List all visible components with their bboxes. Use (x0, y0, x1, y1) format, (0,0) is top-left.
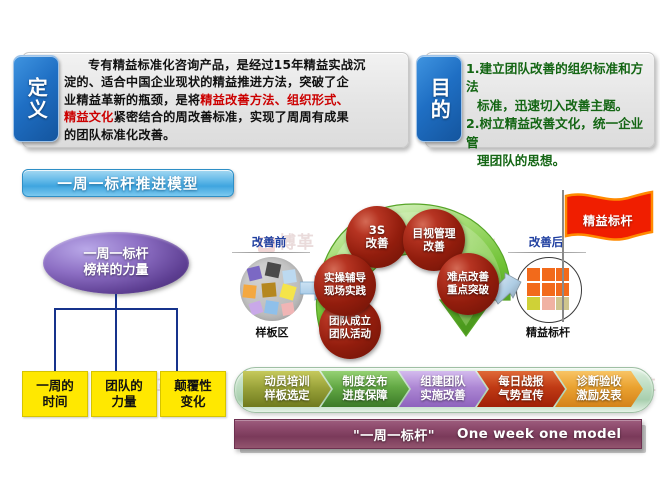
after-tile (527, 268, 540, 281)
before-tile (281, 302, 295, 316)
cycle-sphere-visual-line-1: 目视管理 (412, 227, 455, 240)
before-tile (282, 269, 297, 284)
cycle-sphere-breakthrough: 难点改善 重点突破 (437, 253, 499, 315)
definition-line-1: 专有精益标准化咨询产品，是经过15年精益实战沉 (88, 58, 366, 72)
connector-vertical-center (115, 294, 117, 378)
purpose-item-1-cont: 标准，迅速切入改善主题。 (466, 97, 648, 115)
slide-canvas: B博革 B博革 B博革 B博革 B博革 B博革 定义 专有精益标准化咨询产品，是… (0, 0, 660, 495)
process-step-5-line-1: 诊断验收 (576, 375, 621, 389)
purpose-tag-label: 目的 (429, 77, 449, 121)
pillar-2-line-1: 团队的 (105, 378, 143, 394)
before-caption: 样板区 (240, 324, 304, 340)
pillar-3-line-2: 变化 (180, 394, 205, 410)
process-step-2-line-1: 制度发布 (342, 375, 387, 389)
process-step-5-line-2: 激励发表 (576, 389, 621, 403)
pillar-3-line-1: 颠覆性 (174, 378, 212, 394)
purpose-item-2: 2.树立精益改善文化，统一企业管 (466, 115, 648, 152)
process-step-2-line-2: 进度保障 (342, 389, 387, 403)
cycle-sphere-team-line-2: 团队活动 (329, 328, 371, 341)
purpose-tag: 目的 (416, 55, 462, 142)
process-step-1-line-1: 动员培训 (264, 375, 309, 389)
pillar-2-line-2: 力量 (111, 394, 136, 410)
definition-line-4-highlight: 精益文化 (64, 110, 114, 124)
cycle-sphere-team-line-1: 团队成立 (329, 315, 371, 328)
process-step-4-line-1: 每日战报 (498, 375, 543, 389)
definition-line-5: 的团队标准化改善。 (64, 128, 176, 142)
before-tile (242, 284, 256, 298)
cycle-sphere-breakthrough-line-1: 难点改善 (447, 271, 489, 284)
process-step-5[interactable]: 诊断验收 激励发表 (555, 371, 643, 407)
definition-tag: 定义 (13, 55, 59, 142)
bottom-banner-zh: "一周一标杆" (353, 425, 435, 444)
pillar-box-2: 团队的 力量 (91, 371, 157, 417)
pillar-box-3: 颠覆性 变化 (160, 371, 226, 417)
before-tile (248, 300, 263, 315)
connector-horizontal (54, 308, 178, 310)
before-tile (261, 282, 276, 297)
cycle-sphere-3s-line-2: 改善 (366, 237, 389, 250)
benchmark-flag-label: 精益标杆 (583, 212, 633, 229)
model-title-label: 一周一标杆推进模型 (57, 173, 198, 194)
process-step-4-line-2: 气势宣传 (498, 389, 543, 403)
after-tile (527, 283, 540, 296)
definition-line-3: 业精益革新的瓶颈，是将 (64, 93, 200, 107)
process-step-1-line-2: 样板选定 (264, 389, 309, 403)
pillar-1-line-2: 时间 (42, 394, 67, 410)
connector-vertical-left (54, 308, 56, 378)
flag-pole (562, 190, 564, 322)
connector-vertical-right (176, 308, 178, 378)
process-step-4[interactable]: 每日战报 气势宣传 (477, 371, 565, 407)
purpose-item-2-cont: 理团队的思想。 (466, 152, 648, 170)
cycle-sphere-visual-line-2: 改善 (423, 240, 445, 253)
purpose-text: 1.建立团队改善的组织标准和方法 标准，迅速切入改善主题。 2.树立精益改善文化… (466, 60, 648, 170)
definition-tag-label: 定义 (26, 77, 46, 121)
after-tile (542, 297, 555, 310)
before-tile (265, 262, 282, 279)
process-step-2[interactable]: 制度发布 进度保障 (321, 371, 409, 407)
core-concept-line-2: 榜样的力量 (83, 263, 148, 279)
process-step-3-line-2: 实施改善 (420, 389, 465, 403)
before-label: 改善前 (238, 234, 300, 250)
before-sample-circle (240, 257, 304, 321)
after-tile (542, 283, 555, 296)
purpose-item-1: 1.建立团队改善的组织标准和方法 (466, 60, 648, 97)
cycle-sphere-field-line-1: 实操辅导 (324, 272, 366, 285)
process-steps: 动员培训 样板选定 制度发布 进度保障 组建团队 实施改善 每日战报 气势宣传 … (243, 371, 633, 407)
before-tile (279, 283, 296, 300)
before-tile (247, 266, 263, 282)
pillar-1-line-1: 一周的 (36, 378, 74, 394)
process-step-1[interactable]: 动员培训 样板选定 (243, 371, 331, 407)
before-tile (264, 300, 279, 315)
process-step-3-line-1: 组建团队 (420, 375, 465, 389)
cycle-sphere-field-practice: 实操辅导 现场实践 (314, 254, 376, 316)
cycle-sphere-field-line-2: 现场实践 (324, 285, 366, 298)
core-concept-line-1: 一周一标杆 (83, 247, 148, 263)
pillar-box-1: 一周的 时间 (22, 371, 88, 417)
bottom-banner-en: One week one model (457, 426, 621, 442)
definition-line-3-highlight: 精益改善方法、组织形式、 (200, 93, 349, 107)
definition-text: 专有精益标准化咨询产品，是经过15年精益实战沉 淀的、适合中国企业现状的精益推进… (64, 57, 400, 144)
model-title-banner: 一周一标杆推进模型 (22, 169, 234, 197)
after-tile (527, 297, 540, 310)
after-tile (542, 268, 555, 281)
definition-line-2: 淀的、适合中国企业现状的精益推进方法，突破了企 (64, 75, 349, 89)
process-step-3[interactable]: 组建团队 实施改善 (399, 371, 487, 407)
definition-line-4: 紧密结合的周改善标准，实现了周周有成果 (114, 110, 349, 124)
cycle-sphere-breakthrough-line-2: 重点突破 (447, 284, 489, 297)
bottom-banner: "一周一标杆" One week one model (234, 419, 642, 449)
core-concept-oval: 一周一标杆 榜样的力量 (43, 232, 189, 294)
